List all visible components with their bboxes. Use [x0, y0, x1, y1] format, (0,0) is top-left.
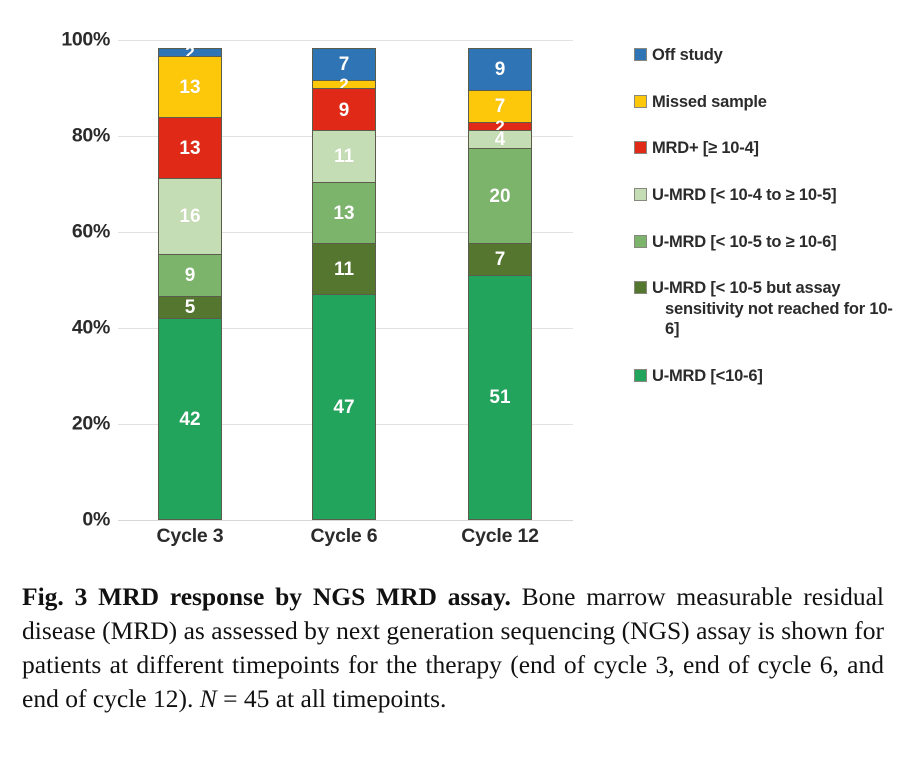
bar-segment[interactable]: 51: [468, 275, 532, 520]
bar-segment[interactable]: 11: [312, 130, 376, 183]
bar-segment[interactable]: 16: [158, 178, 222, 255]
plot-area: 4259161313247111311927517204279: [118, 40, 573, 520]
caption-n-value: = 45 at all timepoints.: [217, 684, 447, 713]
bar-segment-value: 9: [339, 101, 350, 120]
legend-color-swatch-icon: [634, 95, 647, 108]
bar-cycle-3[interactable]: 42591613132: [158, 40, 222, 520]
bar-segment-value: 47: [333, 398, 354, 417]
bar-segment[interactable]: 5: [158, 296, 222, 320]
y-axis-tick-label: 100%: [18, 29, 110, 52]
bar-segment-value: 13: [179, 139, 200, 158]
bar-segment-value: 42: [179, 410, 200, 429]
legend-item[interactable]: U-MRD [< 10-4 to ≥ 10-5]: [634, 185, 902, 206]
x-axis-tick-label: Cycle 3: [125, 525, 255, 548]
legend-item-label: Missed sample: [652, 92, 767, 113]
y-axis-tick-label: 0%: [18, 509, 110, 532]
bar-segment[interactable]: 20: [468, 148, 532, 244]
caption-n-symbol: N: [200, 684, 217, 713]
bar-cycle-6[interactable]: 47111311927: [312, 40, 376, 520]
gridline: [118, 520, 573, 521]
bar-segment-value: 7: [339, 55, 350, 74]
bar-segment[interactable]: 9: [158, 254, 222, 297]
bar-segment[interactable]: 9: [312, 88, 376, 131]
bar-segment[interactable]: 13: [312, 182, 376, 244]
bar-cycle-12[interactable]: 517204279: [468, 40, 532, 520]
bar-segment[interactable]: 9: [468, 48, 532, 91]
legend-item-label: U-MRD [< 10-5 to ≥ 10-6]: [652, 232, 836, 253]
bar-segment[interactable]: 7: [468, 243, 532, 277]
legend-item[interactable]: U-MRD [< 10-5 but assaysensitivity not r…: [634, 278, 902, 340]
legend-item[interactable]: MRD+ [≥ 10-4]: [634, 138, 902, 159]
caption-figure-label: Fig. 3 MRD response by NGS MRD assay.: [22, 582, 511, 611]
bar-segment-value: 9: [185, 266, 196, 285]
y-axis-tick-label: 20%: [18, 413, 110, 436]
y-axis-tick-label: 40%: [18, 317, 110, 340]
legend-color-swatch-icon: [634, 48, 647, 61]
x-axis-tick-label: Cycle 12: [435, 525, 565, 548]
legend-item-label: U-MRD [< 10-5 but assaysensitivity not r…: [652, 278, 902, 340]
legend-color-swatch-icon: [634, 235, 647, 248]
bar-segment-value: 7: [495, 97, 506, 116]
legend-item[interactable]: U-MRD [<10-6]: [634, 366, 902, 387]
y-axis-tick-label: 80%: [18, 125, 110, 148]
bar-segment[interactable]: 42: [158, 318, 222, 520]
bar-segment[interactable]: 47: [312, 294, 376, 520]
y-axis-tick-label: 60%: [18, 221, 110, 244]
bar-segment-value: 20: [489, 187, 510, 206]
legend-color-swatch-icon: [634, 141, 647, 154]
legend-item[interactable]: Missed sample: [634, 92, 902, 113]
bar-segment[interactable]: 13: [158, 56, 222, 118]
y-axis: 100%80%60%40%20%0%: [18, 0, 110, 560]
bar-segment[interactable]: 4: [468, 130, 532, 149]
figure-caption: Fig. 3 MRD response by NGS MRD assay. Bo…: [22, 580, 884, 716]
legend-color-swatch-icon: [634, 369, 647, 382]
bar-segment-value: 51: [489, 388, 510, 407]
chart-legend: Off studyMissed sampleMRD+ [≥ 10-4]U-MRD…: [634, 45, 902, 413]
bar-segment-value: 13: [179, 78, 200, 97]
figure-stacked-bar-chart: 100%80%60%40%20%0% 425916131324711131192…: [0, 0, 904, 560]
bar-segment-value: 9: [495, 60, 506, 79]
x-axis-tick-label: Cycle 6: [279, 525, 409, 548]
bar-segment-value: 5: [185, 298, 196, 317]
legend-item[interactable]: U-MRD [< 10-5 to ≥ 10-6]: [634, 232, 902, 253]
legend-item-label: MRD+ [≥ 10-4]: [652, 138, 759, 159]
legend-item[interactable]: Off study: [634, 45, 902, 66]
legend-item-label-line2: sensitivity not reached for 10-6]: [652, 299, 902, 340]
bar-segment-value: 13: [333, 204, 354, 223]
bar-segment[interactable]: 11: [312, 243, 376, 296]
legend-item-label: Off study: [652, 45, 723, 66]
bar-segment-value: 11: [334, 260, 354, 279]
x-axis: Cycle 3Cycle 6Cycle 12: [118, 525, 573, 565]
bar-segment[interactable]: 13: [158, 117, 222, 179]
legend-item-label: U-MRD [<10-6]: [652, 366, 763, 387]
legend-item-label: U-MRD [< 10-4 to ≥ 10-5]: [652, 185, 836, 206]
bar-segment-value: 16: [179, 207, 200, 226]
legend-item-label-line1: U-MRD [< 10-5 but assay: [652, 279, 840, 297]
bar-segment-value: 11: [334, 147, 354, 166]
bar-segment-value: 7: [495, 250, 506, 269]
legend-color-swatch-icon: [634, 188, 647, 201]
legend-color-swatch-icon: [634, 281, 647, 294]
bar-segment-value: 4: [495, 130, 506, 149]
